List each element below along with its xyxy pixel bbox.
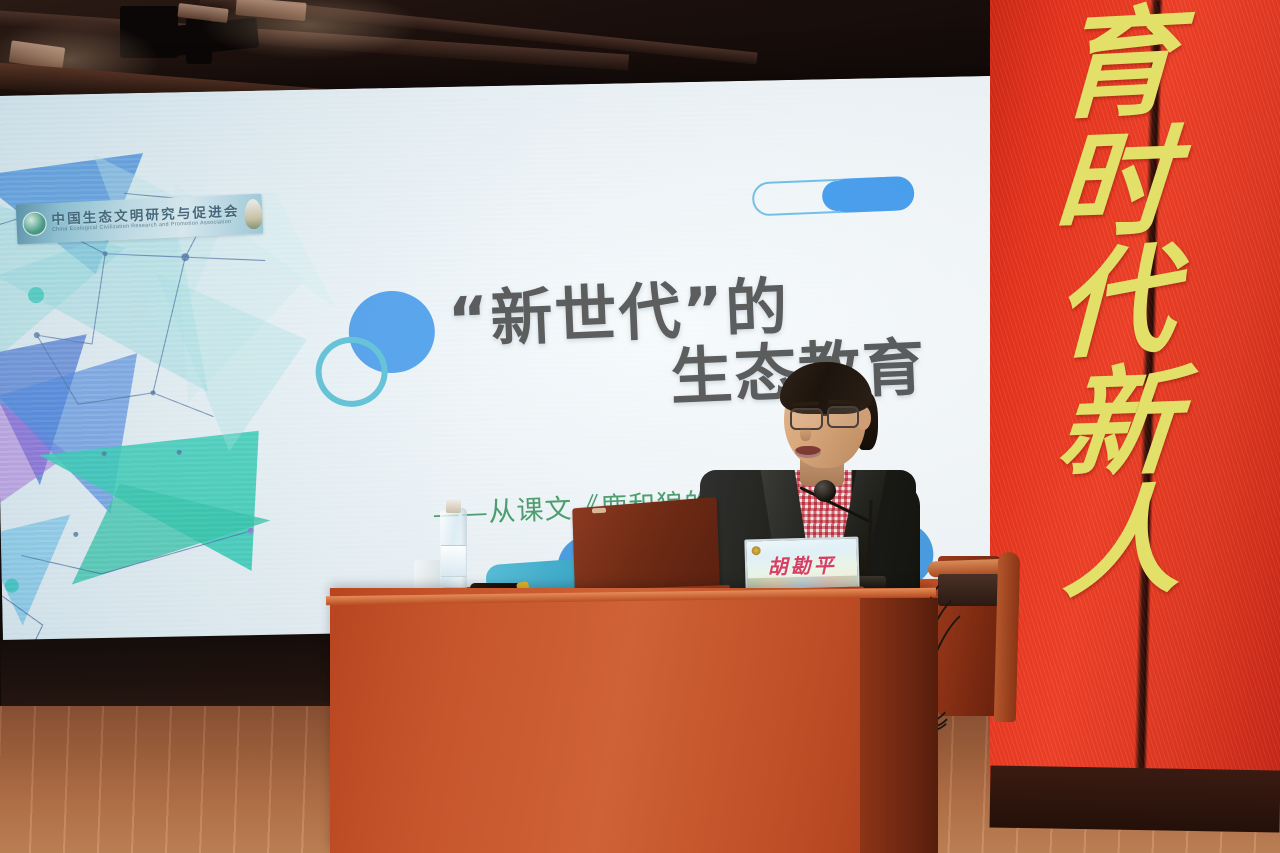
speaker-mouth xyxy=(795,446,821,458)
banner-calligraphy: 育 时 代 新 人 xyxy=(990,0,1280,790)
bottle-cap xyxy=(446,500,461,513)
red-banner: 育 时 代 新 人 xyxy=(990,0,1280,790)
microphone-head-icon xyxy=(814,480,836,502)
banner-char-4: 新 xyxy=(1054,363,1183,483)
speaker-nose xyxy=(800,425,811,441)
speaking-podium xyxy=(330,588,930,853)
banner-char-1: 育 xyxy=(1056,3,1178,125)
bottle-label xyxy=(441,545,466,577)
logo-figure-graphic xyxy=(244,199,263,230)
capsule-progress-deco xyxy=(752,176,915,217)
eyeglasses-lens-right xyxy=(827,406,859,428)
speaker-nameplate: 胡勘平 xyxy=(744,537,859,592)
banner-char-5: 人 xyxy=(1061,481,1183,603)
globe-leaf-logo-icon xyxy=(22,211,47,236)
laptop-hinge xyxy=(592,508,606,514)
eyeglasses-bridge xyxy=(822,414,829,416)
podium-side-panel xyxy=(860,598,938,853)
lecture-hall-scene: 中国生态文明研究与促进会 China Ecological Civilizati… xyxy=(0,0,1280,853)
banner-char-2: 时 xyxy=(1050,124,1176,244)
banner-char-3: 代 xyxy=(1055,241,1175,365)
nameplate-name-text: 胡勘平 xyxy=(767,549,837,580)
